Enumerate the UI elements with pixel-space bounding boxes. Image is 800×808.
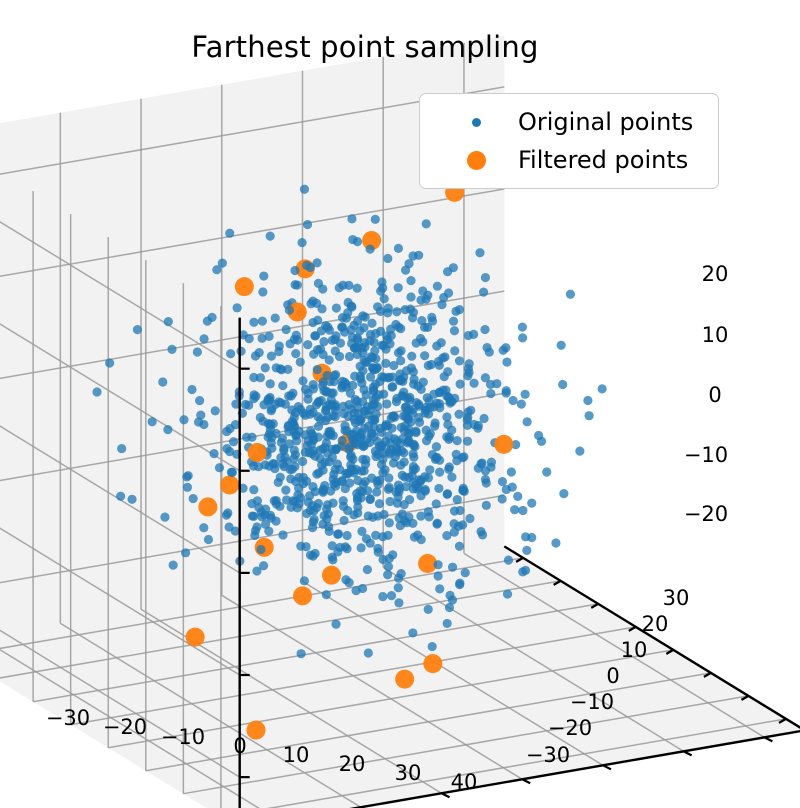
original-point-marker xyxy=(384,562,393,571)
original-point-marker xyxy=(388,550,397,559)
original-point-marker xyxy=(291,477,300,486)
original-point-marker xyxy=(392,436,401,445)
original-point-marker xyxy=(360,342,369,351)
original-point-marker xyxy=(448,563,457,572)
original-point-marker xyxy=(437,338,446,347)
original-point-marker xyxy=(226,349,235,358)
original-point-marker xyxy=(331,445,340,454)
original-point-marker xyxy=(383,254,392,263)
original-point-marker xyxy=(432,442,441,451)
original-point-marker xyxy=(266,379,275,388)
original-point-marker xyxy=(211,406,220,415)
original-point-marker xyxy=(486,389,495,398)
original-point-marker xyxy=(369,387,378,396)
original-point-marker xyxy=(498,494,507,503)
original-point-marker xyxy=(434,571,443,580)
original-point-marker xyxy=(371,215,380,224)
original-point-marker xyxy=(251,351,260,360)
y-axis-tick-label: 30 xyxy=(663,586,690,610)
original-point-marker xyxy=(296,405,305,414)
original-point-marker xyxy=(542,467,551,476)
original-point-marker xyxy=(383,373,392,382)
original-point-marker xyxy=(559,489,568,498)
original-point-marker xyxy=(447,473,456,482)
original-point-marker xyxy=(317,304,326,313)
original-point-marker xyxy=(358,366,367,375)
original-point-marker xyxy=(424,432,433,441)
original-point-marker xyxy=(229,437,238,446)
original-point-marker xyxy=(386,325,395,334)
original-point-marker xyxy=(384,473,393,482)
original-point-marker xyxy=(522,546,531,555)
original-point-marker xyxy=(324,509,333,518)
original-point-marker xyxy=(508,483,517,492)
original-point-marker xyxy=(353,440,362,449)
legend-marker-original-points xyxy=(434,118,518,127)
original-point-marker xyxy=(245,334,254,343)
z-axis-tick-label: 10 xyxy=(702,323,729,347)
original-point-marker xyxy=(474,421,483,430)
original-point-marker xyxy=(455,580,464,589)
original-point-marker xyxy=(347,451,356,460)
original-point-marker xyxy=(264,527,273,536)
original-point-marker xyxy=(422,219,431,228)
original-point-marker xyxy=(196,411,205,420)
original-point-marker xyxy=(445,603,454,612)
original-point-marker xyxy=(225,229,234,238)
original-point-marker xyxy=(450,394,459,403)
original-point-marker xyxy=(281,485,290,494)
y-axis-tick xyxy=(522,779,530,783)
z-axis-tick-label: 20 xyxy=(702,262,729,286)
original-point-marker xyxy=(310,515,319,524)
original-point-marker xyxy=(316,415,325,424)
original-point-marker xyxy=(381,437,390,446)
original-point-marker xyxy=(233,303,242,312)
original-point-marker xyxy=(424,507,433,516)
original-point-marker xyxy=(382,399,391,408)
original-point-marker xyxy=(328,336,337,345)
original-point-marker xyxy=(508,396,517,405)
original-point-marker xyxy=(278,530,287,539)
original-point-marker xyxy=(445,462,454,471)
original-point-marker xyxy=(167,345,176,354)
original-point-marker xyxy=(306,426,315,435)
filtered-point-marker xyxy=(186,628,205,647)
original-point-marker xyxy=(278,381,287,390)
original-point-marker xyxy=(435,468,444,477)
filtered-point-marker xyxy=(494,435,513,454)
original-point-marker xyxy=(331,620,340,629)
original-point-marker xyxy=(444,435,453,444)
original-point-marker xyxy=(398,509,407,518)
y-axis-tick-label: −30 xyxy=(526,743,570,767)
legend-label-original-points: Original points xyxy=(518,108,693,136)
original-point-marker xyxy=(318,488,327,497)
y-axis-tick-label: 20 xyxy=(642,612,669,636)
original-point-marker xyxy=(433,282,442,291)
original-point-marker xyxy=(397,446,406,455)
x-axis-tick-label: 10 xyxy=(283,743,310,767)
original-point-marker xyxy=(347,301,356,310)
original-point-marker xyxy=(461,568,470,577)
original-point-marker xyxy=(527,498,536,507)
original-point-marker xyxy=(193,347,202,356)
original-point-marker xyxy=(385,497,394,506)
original-point-marker xyxy=(378,532,387,541)
original-point-marker xyxy=(248,511,257,520)
original-point-marker xyxy=(189,494,198,503)
original-point-marker xyxy=(345,442,354,451)
original-point-marker xyxy=(409,308,418,317)
original-point-marker xyxy=(504,556,513,565)
original-point-marker xyxy=(482,478,491,487)
original-point-marker xyxy=(449,263,458,272)
original-point-marker xyxy=(276,398,285,407)
original-point-marker xyxy=(199,334,208,343)
original-point-marker xyxy=(278,434,287,443)
y-axis-tick xyxy=(764,737,772,741)
original-point-marker xyxy=(267,438,276,447)
original-point-marker xyxy=(427,360,436,369)
original-point-marker xyxy=(498,477,507,486)
original-point-marker xyxy=(302,477,311,486)
original-point-marker xyxy=(424,605,433,614)
x-axis-tick-label: −20 xyxy=(103,715,147,739)
original-point-marker xyxy=(341,484,350,493)
original-point-marker xyxy=(345,400,354,409)
x-axis-tick-label: 20 xyxy=(339,752,366,776)
original-point-marker xyxy=(208,313,217,322)
original-point-marker xyxy=(466,406,475,415)
filtered-point-marker xyxy=(248,443,267,462)
filtered-point-marker xyxy=(322,566,341,585)
original-point-marker xyxy=(416,334,425,343)
y-axis-tick-label: 0 xyxy=(606,664,619,688)
original-point-marker xyxy=(375,499,384,508)
original-point-marker xyxy=(518,506,527,515)
original-point-marker xyxy=(160,512,169,521)
original-point-marker xyxy=(450,326,459,335)
original-point-marker xyxy=(413,530,422,539)
original-point-marker xyxy=(308,523,317,532)
original-point-marker xyxy=(258,287,267,296)
original-point-marker xyxy=(518,322,527,331)
original-point-marker xyxy=(557,341,566,350)
original-point-marker xyxy=(454,410,463,419)
original-point-marker xyxy=(406,292,415,301)
original-point-marker xyxy=(521,390,530,399)
original-point-marker xyxy=(415,418,424,427)
original-point-marker xyxy=(345,352,354,361)
original-point-marker xyxy=(357,543,366,552)
original-point-marker xyxy=(314,279,323,288)
original-point-marker xyxy=(518,333,527,342)
original-point-marker xyxy=(357,527,366,536)
original-point-marker xyxy=(356,416,365,425)
original-point-marker xyxy=(396,369,405,378)
original-point-marker xyxy=(383,335,392,344)
original-point-marker xyxy=(282,495,291,504)
original-point-marker xyxy=(480,325,489,334)
original-point-marker xyxy=(388,382,397,391)
x-axis-tick-label: 0 xyxy=(233,734,246,758)
original-point-marker xyxy=(421,403,430,412)
original-point-marker xyxy=(342,544,351,553)
original-point-marker xyxy=(127,495,136,504)
original-point-marker xyxy=(492,379,501,388)
original-point-marker xyxy=(195,396,204,405)
original-point-marker xyxy=(225,424,234,433)
original-point-marker xyxy=(308,318,317,327)
original-point-marker xyxy=(183,483,192,492)
original-point-marker xyxy=(499,346,508,355)
original-point-marker xyxy=(453,495,462,504)
original-point-marker xyxy=(357,466,366,475)
legend-item-filtered[interactable]: Filtered points xyxy=(434,141,704,179)
original-point-marker xyxy=(387,424,396,433)
original-point-marker xyxy=(376,327,385,336)
original-point-marker xyxy=(301,542,310,551)
original-point-marker xyxy=(397,569,406,578)
original-point-marker xyxy=(432,453,441,462)
legend-marker-filtered-points xyxy=(434,151,518,170)
original-point-marker xyxy=(267,406,276,415)
original-point-marker xyxy=(339,516,348,525)
original-point-marker xyxy=(385,483,394,492)
original-point-marker xyxy=(443,420,452,429)
original-point-marker xyxy=(408,519,417,528)
original-point-marker xyxy=(297,649,306,658)
original-point-marker xyxy=(414,251,423,260)
original-point-marker xyxy=(291,349,300,358)
original-point-marker xyxy=(394,283,403,292)
original-point-marker xyxy=(463,437,472,446)
original-point-marker xyxy=(411,464,420,473)
figure-canvas: Farthest point sampling Original points … xyxy=(0,0,800,808)
original-point-marker xyxy=(482,343,491,352)
original-point-marker xyxy=(464,368,473,377)
original-point-marker xyxy=(308,297,317,306)
original-point-marker xyxy=(534,431,543,440)
original-point-marker xyxy=(381,345,390,354)
original-point-marker xyxy=(434,484,443,493)
original-point-marker xyxy=(179,415,188,424)
original-point-marker xyxy=(169,561,178,570)
original-point-marker xyxy=(329,479,338,488)
original-point-marker xyxy=(325,527,334,536)
filtered-point-marker xyxy=(395,670,414,689)
original-point-marker xyxy=(373,450,382,459)
original-point-marker xyxy=(404,436,413,445)
original-point-marker xyxy=(350,321,359,330)
original-point-marker xyxy=(222,511,231,520)
original-point-marker xyxy=(373,544,382,553)
original-point-marker xyxy=(420,323,429,332)
original-point-marker xyxy=(428,316,437,325)
original-point-marker xyxy=(346,430,355,439)
original-point-marker xyxy=(373,437,382,446)
original-point-marker xyxy=(204,535,213,544)
original-point-marker xyxy=(401,482,410,491)
original-point-marker xyxy=(266,425,275,434)
original-point-marker xyxy=(381,359,390,368)
original-point-marker xyxy=(396,346,405,355)
original-point-marker xyxy=(523,417,532,426)
original-point-marker xyxy=(420,351,429,360)
original-point-marker xyxy=(366,245,375,254)
original-point-marker xyxy=(332,303,341,312)
original-point-marker xyxy=(510,505,519,514)
legend-item-original[interactable]: Original points xyxy=(434,103,704,141)
original-point-marker xyxy=(458,486,467,495)
original-point-marker xyxy=(182,472,191,481)
original-point-marker xyxy=(386,445,395,454)
original-point-marker xyxy=(352,586,361,595)
original-point-marker xyxy=(318,466,327,475)
original-point-marker xyxy=(319,386,328,395)
legend-label-filtered-points: Filtered points xyxy=(518,146,688,174)
original-point-marker xyxy=(300,185,309,194)
original-point-marker xyxy=(372,487,381,496)
original-point-marker xyxy=(379,510,388,519)
original-point-marker xyxy=(364,648,373,657)
original-point-marker xyxy=(443,619,452,628)
original-point-marker xyxy=(521,532,530,541)
original-point-marker xyxy=(407,352,416,361)
original-point-marker xyxy=(566,290,575,299)
original-point-marker xyxy=(356,493,365,502)
original-point-marker xyxy=(292,331,301,340)
original-point-marker xyxy=(425,465,434,474)
original-point-marker xyxy=(261,460,270,469)
original-point-marker xyxy=(256,545,265,554)
original-point-marker xyxy=(394,322,403,331)
original-point-marker xyxy=(378,283,387,292)
original-point-marker xyxy=(517,400,526,409)
original-point-marker xyxy=(585,411,594,420)
original-point-marker xyxy=(314,499,323,508)
original-point-marker xyxy=(400,421,409,430)
original-point-marker xyxy=(298,457,307,466)
original-point-marker xyxy=(264,394,273,403)
original-point-marker xyxy=(453,436,462,445)
original-point-marker xyxy=(361,455,370,464)
original-point-marker xyxy=(440,352,449,361)
original-point-marker xyxy=(486,463,495,472)
original-point-marker xyxy=(271,313,280,322)
original-point-marker xyxy=(521,566,530,575)
original-point-marker xyxy=(328,553,337,562)
z-axis-tick-label: −10 xyxy=(684,443,728,467)
original-point-marker xyxy=(163,425,172,434)
original-point-marker xyxy=(311,331,320,340)
original-point-marker xyxy=(383,570,392,579)
original-point-marker xyxy=(209,449,218,458)
original-point-marker xyxy=(342,380,351,389)
original-point-marker xyxy=(266,511,275,520)
original-point-marker xyxy=(418,286,427,295)
original-point-marker xyxy=(293,490,302,499)
original-point-marker xyxy=(435,361,444,370)
original-point-marker xyxy=(416,296,425,305)
original-point-marker xyxy=(363,565,372,574)
original-point-marker xyxy=(575,447,584,456)
original-point-marker xyxy=(224,522,233,531)
original-point-marker xyxy=(464,331,473,340)
original-point-marker xyxy=(212,265,221,274)
original-point-marker xyxy=(432,499,441,508)
original-point-marker xyxy=(347,464,356,473)
filtered-point-marker xyxy=(220,476,239,495)
x-axis-tick-label: −10 xyxy=(161,725,205,749)
original-point-marker xyxy=(408,628,417,637)
original-point-marker xyxy=(366,372,375,381)
original-point-marker xyxy=(254,503,263,512)
original-point-marker xyxy=(394,244,403,253)
original-point-marker xyxy=(313,365,322,374)
filtered-point-marker xyxy=(235,277,254,296)
original-point-marker xyxy=(242,433,251,442)
original-point-marker xyxy=(475,248,484,257)
x-axis-tick-label: 40 xyxy=(451,770,478,794)
original-point-marker xyxy=(353,502,362,511)
original-point-marker xyxy=(92,387,101,396)
original-point-marker xyxy=(433,519,442,528)
original-point-marker xyxy=(336,339,345,348)
z-axis-tick-label: 0 xyxy=(708,383,721,407)
original-point-marker xyxy=(252,522,261,531)
original-point-marker xyxy=(558,380,567,389)
original-point-marker xyxy=(444,288,453,297)
original-point-marker xyxy=(359,356,368,365)
original-point-marker xyxy=(481,373,490,382)
original-point-marker xyxy=(199,523,208,532)
original-point-marker xyxy=(148,417,157,426)
original-point-marker xyxy=(353,284,362,293)
original-point-marker xyxy=(469,379,478,388)
original-point-marker xyxy=(401,305,410,314)
original-point-marker xyxy=(369,338,378,347)
original-point-marker xyxy=(503,589,512,598)
original-point-marker xyxy=(285,339,294,348)
original-point-marker xyxy=(421,486,430,495)
original-point-marker xyxy=(337,323,346,332)
original-point-marker xyxy=(258,317,267,326)
original-point-marker xyxy=(452,456,461,465)
legend: Original points Filtered points xyxy=(419,93,719,189)
x-axis-tick-label: 30 xyxy=(395,761,422,785)
original-point-marker xyxy=(272,496,281,505)
original-point-marker xyxy=(290,266,299,275)
original-point-marker xyxy=(347,214,356,223)
original-point-marker xyxy=(507,467,516,476)
original-point-marker xyxy=(367,319,376,328)
original-point-marker xyxy=(401,412,410,421)
original-point-marker xyxy=(385,518,394,527)
y-axis-tick-label: 10 xyxy=(621,638,648,662)
original-point-marker xyxy=(392,307,401,316)
original-point-marker xyxy=(443,489,452,498)
original-point-marker xyxy=(502,357,511,366)
original-point-marker xyxy=(339,409,348,418)
original-point-marker xyxy=(266,232,275,241)
original-point-marker xyxy=(133,325,142,334)
original-point-marker xyxy=(350,372,359,381)
original-point-marker xyxy=(445,591,454,600)
original-point-marker xyxy=(428,642,437,651)
original-point-marker xyxy=(344,281,353,290)
